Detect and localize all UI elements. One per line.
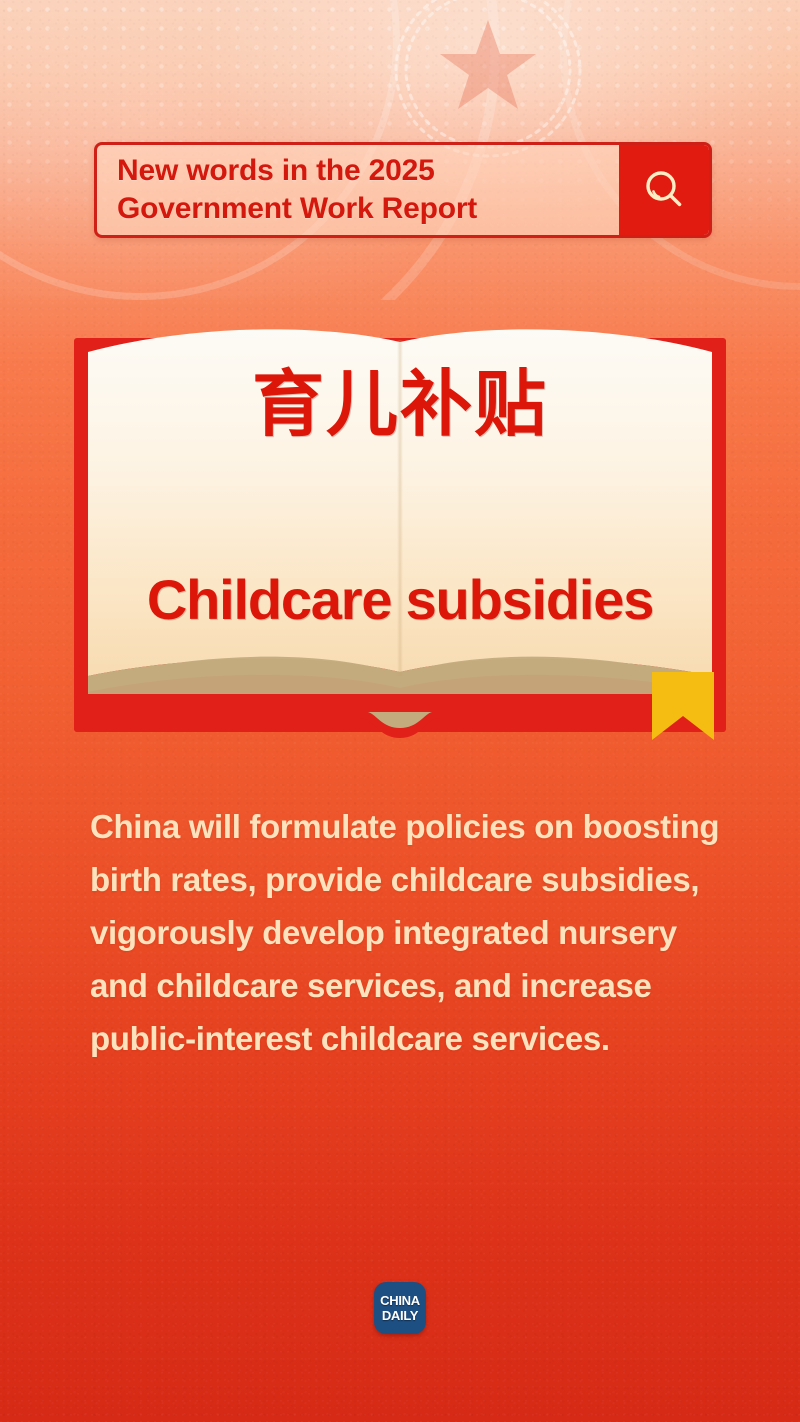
logo-line-daily: DAILY: [382, 1309, 418, 1322]
search-icon: [640, 166, 688, 214]
headline-search-bar[interactable]: New words in the 2025 Government Work Re…: [94, 142, 712, 238]
poster-root: New words in the 2025 Government Work Re…: [0, 0, 800, 1422]
search-button[interactable]: [619, 145, 709, 235]
open-book-graphic: 育儿补贴 Childcare subsidies: [74, 320, 726, 732]
page-title: New words in the 2025 Government Work Re…: [117, 152, 477, 229]
book-term-chinese: 育儿补贴: [74, 368, 726, 440]
book-term-english: Childcare subsidies: [74, 572, 726, 628]
china-daily-logo: CHINA DAILY: [374, 1282, 426, 1334]
logo-line-china: CHINA: [380, 1294, 420, 1307]
book-spine-notch: [360, 712, 440, 746]
bookmark-ribbon-icon: [652, 672, 714, 740]
search-input[interactable]: New words in the 2025 Government Work Re…: [97, 145, 619, 235]
body-paragraph: China will formulate policies on boostin…: [90, 800, 722, 1065]
